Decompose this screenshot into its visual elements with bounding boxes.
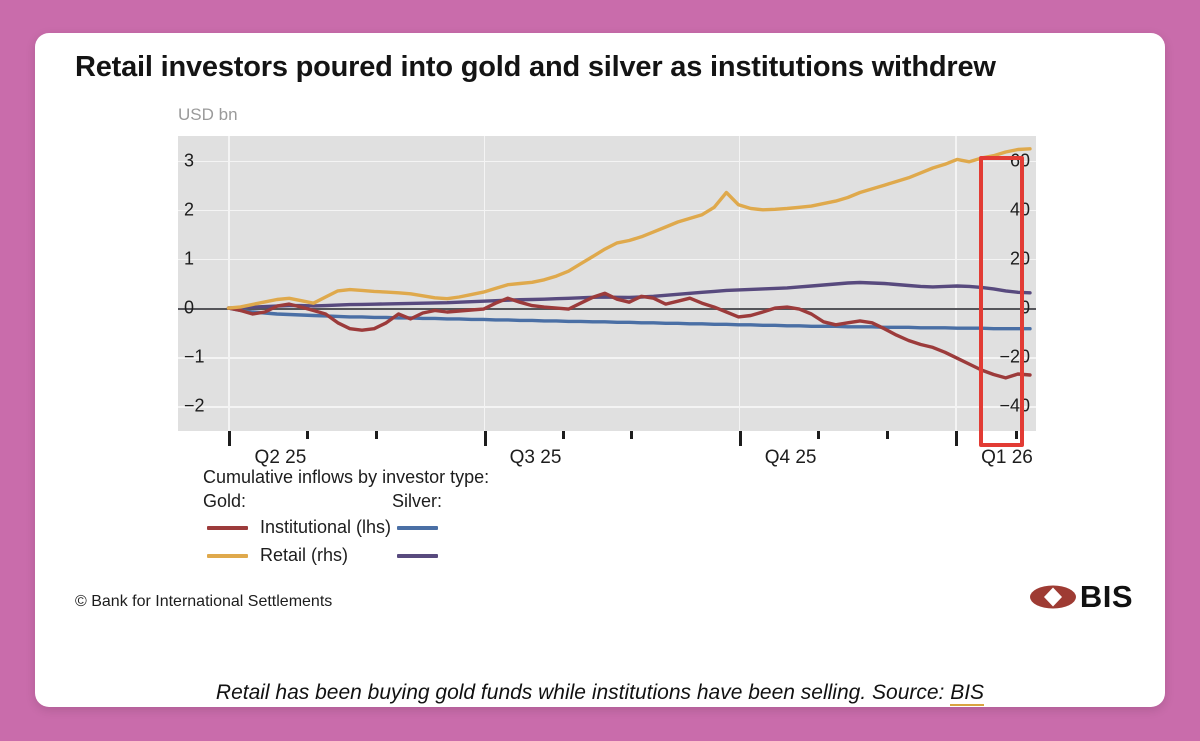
caption-text: Retail has been buying gold funds while … xyxy=(216,681,950,704)
chart-card: Retail investors poured into gold and si… xyxy=(35,33,1165,707)
series-lines xyxy=(178,136,1036,431)
legend-column-headers: Gold: Silver: xyxy=(203,491,489,515)
plot-area: 3210−1−26040200−20−40 xyxy=(178,136,1036,431)
bis-logo: BIS xyxy=(1029,581,1133,612)
copyright-notice: © Bank for International Settlements xyxy=(75,593,332,611)
legend-header-gold: Gold: xyxy=(203,491,246,512)
x-axis-minor-tick xyxy=(817,431,820,439)
screenshot-root: Retail investors poured into gold and si… xyxy=(0,0,1200,741)
bis-logo-text: BIS xyxy=(1080,581,1133,612)
x-axis-ticks xyxy=(178,431,1036,447)
x-axis-label: Q3 25 xyxy=(510,447,562,469)
legend-swatch-silver-institutional xyxy=(397,526,438,530)
series-line xyxy=(229,308,1031,329)
legend-row-retail: Retail (rhs) xyxy=(203,543,489,571)
x-axis-minor-tick xyxy=(306,431,309,439)
caption-source: BIS xyxy=(950,681,984,706)
page-title: Retail investors poured into gold and si… xyxy=(75,51,996,84)
legend-row-institutional: Institutional (lhs) xyxy=(203,515,489,543)
x-axis-minor-tick xyxy=(1015,431,1018,439)
x-axis-minor-tick xyxy=(886,431,889,439)
legend-header-silver: Silver: xyxy=(392,491,442,512)
legend-label-retail: Retail (rhs) xyxy=(260,545,348,566)
x-axis-minor-tick xyxy=(630,431,633,439)
figure-caption: Retail has been buying gold funds while … xyxy=(35,681,1165,705)
x-axis-label: Q4 25 xyxy=(765,447,817,469)
legend-swatch-silver-retail xyxy=(397,554,438,558)
x-axis-label: Q1 26 xyxy=(981,447,1033,469)
chart-legend: Cumulative inflows by investor type: Gol… xyxy=(203,467,489,571)
bis-diamond-icon xyxy=(1029,582,1077,612)
legend-label-institutional: Institutional (lhs) xyxy=(260,517,391,538)
x-axis-major-tick xyxy=(484,431,487,446)
legend-swatch-gold-institutional xyxy=(207,526,248,530)
x-axis-major-tick xyxy=(228,431,231,446)
legend-title: Cumulative inflows by investor type: xyxy=(203,467,489,488)
x-axis-minor-tick xyxy=(375,431,378,439)
series-line xyxy=(229,283,1031,309)
y-axis-unit-label: USD bn xyxy=(178,105,238,125)
annotation-highlight-box xyxy=(979,156,1025,447)
x-axis-label: Q2 25 xyxy=(255,447,307,469)
x-axis-minor-tick xyxy=(562,431,565,439)
x-axis-major-tick xyxy=(739,431,742,446)
legend-swatch-gold-retail xyxy=(207,554,248,558)
x-axis-major-tick xyxy=(955,431,958,446)
